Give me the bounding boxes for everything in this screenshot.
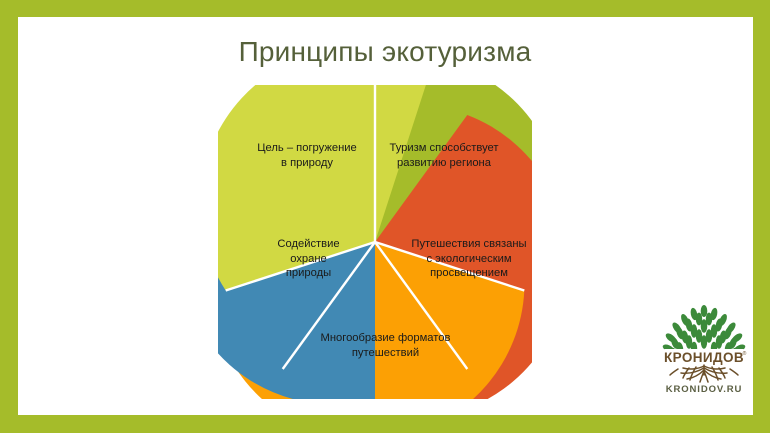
tree-logo-icon: КРОНИДОВ ® [656, 305, 752, 383]
registered-mark-icon: ® [743, 350, 747, 357]
brand-url: KRONIDOV.RU [650, 384, 758, 395]
slide-border-bottom [0, 415, 770, 433]
pie-chart: Туризм способствует развитию региона Пут… [218, 85, 532, 399]
slide-border-top [0, 0, 770, 17]
slide-canvas: Принципы экотуризма Туризм способствует … [0, 0, 770, 433]
brand-logo[interactable]: КРОНИДОВ ® KRONIDOV.RU [650, 305, 758, 405]
pie-chart-svg [218, 85, 532, 399]
tree-roots [670, 365, 738, 382]
page-title: Принципы экотуризма [0, 36, 770, 68]
tree-foliage [662, 305, 747, 355]
brand-wordmark: КРОНИДОВ [664, 350, 744, 365]
